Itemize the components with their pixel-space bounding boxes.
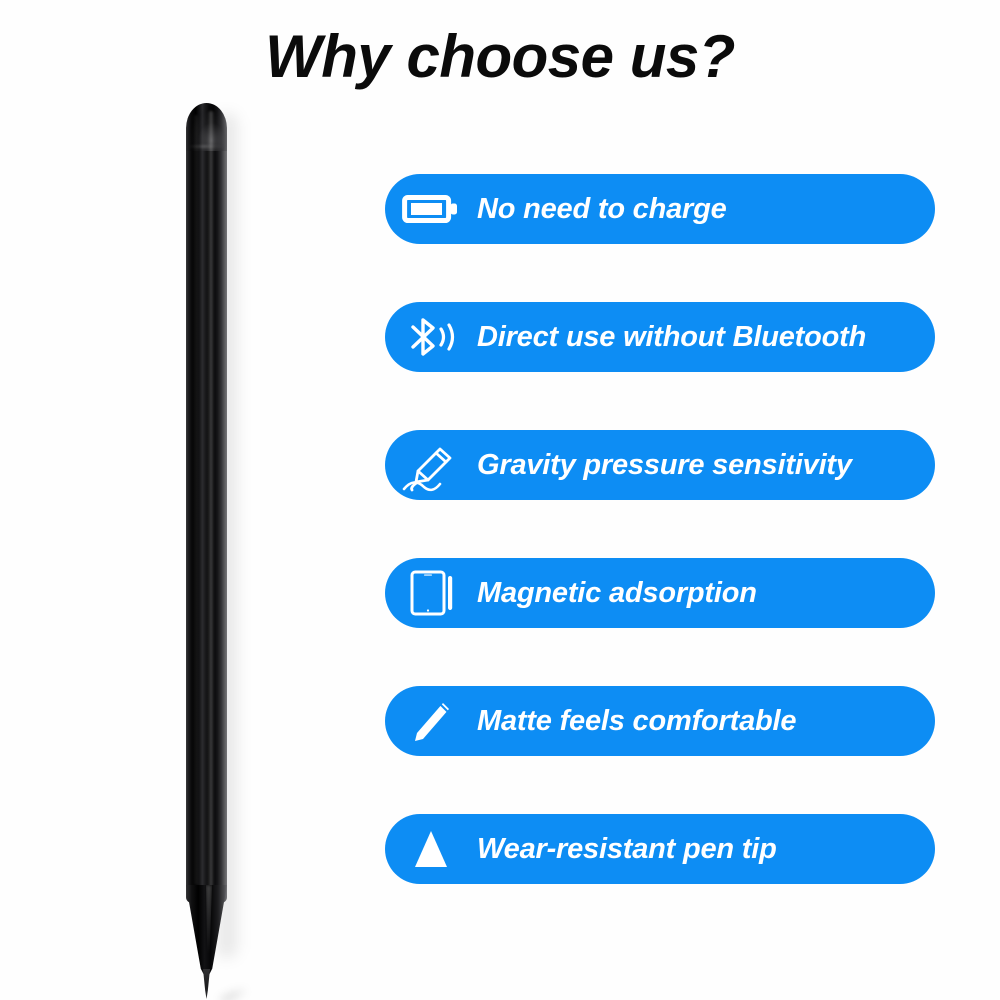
- bluetooth-icon: [385, 313, 477, 361]
- feature-label: Magnetic adsorption: [477, 577, 935, 610]
- stylus-icon: [385, 695, 477, 747]
- feature-label: No need to charge: [477, 193, 935, 226]
- stylus-cap: [186, 103, 227, 151]
- feature-list: No need to charge Direct use without Blu…: [385, 174, 935, 884]
- feature-item-wear-resistant-tip[interactable]: Wear-resistant pen tip: [385, 814, 935, 884]
- feature-item-no-bluetooth[interactable]: Direct use without Bluetooth: [385, 302, 935, 372]
- feature-label: Direct use without Bluetooth: [477, 321, 935, 354]
- stylus-product-image: [150, 85, 290, 965]
- page-title: Why choose us?: [0, 22, 1000, 91]
- feature-item-matte-feel[interactable]: Matte feels comfortable: [385, 686, 935, 756]
- tablet-pen-icon: [385, 567, 477, 619]
- stylus-highlight: [208, 111, 214, 891]
- feature-item-no-charge[interactable]: No need to charge: [385, 174, 935, 244]
- battery-icon: [385, 191, 477, 227]
- feature-item-pressure-sensitivity[interactable]: Gravity pressure sensitivity: [385, 430, 935, 500]
- feature-label: Gravity pressure sensitivity: [477, 449, 935, 482]
- feature-label: Matte feels comfortable: [477, 705, 935, 738]
- triangle-tip-icon: [385, 825, 477, 873]
- feature-label: Wear-resistant pen tip: [477, 833, 935, 866]
- product-feature-poster: Why choose us? No need to charge: [0, 0, 1000, 1000]
- feature-item-magnetic-adsorption[interactable]: Magnetic adsorption: [385, 558, 935, 628]
- pencil-draw-icon: [385, 437, 477, 493]
- stylus-highlight-secondary: [194, 115, 198, 885]
- stylus-barrel: [186, 103, 227, 903]
